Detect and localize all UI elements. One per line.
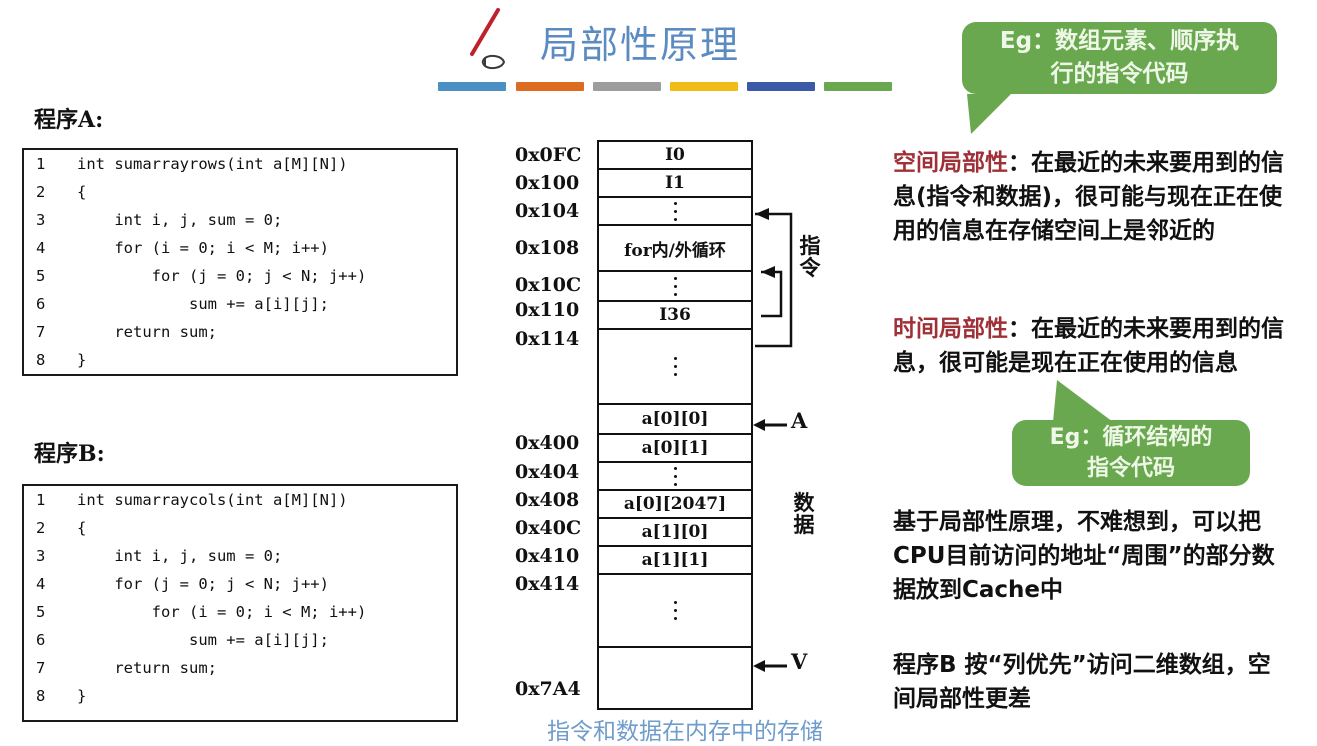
- code-line: 7 return sum;: [24, 318, 456, 346]
- temporal-locality-paragraph: 时间局部性：在最近的未来要用到的信息，很可能是现在正在使用的信息: [893, 312, 1293, 380]
- code-line: 8}: [24, 682, 456, 710]
- memory-cell: I0: [599, 142, 751, 170]
- code-line-number: 6: [24, 626, 71, 654]
- code-line-number: 7: [24, 654, 71, 682]
- memory-cell: [599, 330, 751, 405]
- memory-cell: [599, 198, 751, 226]
- code-line: 6 sum += a[i][j];: [24, 290, 456, 318]
- bar-green: [824, 82, 892, 91]
- code-line-text: {: [71, 514, 456, 542]
- program-b-note: 程序B 按“列优先”访问二维数组，空间局部性更差: [893, 648, 1293, 716]
- code-line-text: return sum;: [71, 654, 456, 682]
- vertical-ellipsis-icon: [674, 464, 677, 488]
- bar-blue: [438, 82, 506, 91]
- code-line-text: }: [71, 682, 456, 710]
- code-line-number: 2: [24, 178, 71, 206]
- memory-address-label: 0x414: [515, 573, 589, 595]
- code-line-number: 5: [24, 598, 71, 626]
- spatial-locality-paragraph: 空间局部性：在最近的未来要用到的信息(指令和数据)，很可能与现在正在使用的信息在…: [893, 146, 1293, 248]
- memory-address-label: 0x400: [515, 432, 589, 454]
- code-line-text: int sumarrayrows(int a[M][N]): [71, 150, 456, 178]
- marker-a-arrow: [753, 417, 789, 433]
- memory-cell: I36: [599, 302, 751, 330]
- vertical-ellipsis-icon: [674, 355, 677, 379]
- memory-cell-value: for内/外循环: [624, 236, 726, 261]
- slide-root: 局部性原理 程序A: 1int sumarrayrows(int a[M][N]…: [0, 0, 1317, 746]
- code-line: 1int sumarraycols(int a[M][N]): [24, 486, 456, 514]
- code-line-number: 4: [24, 234, 71, 262]
- memory-cell-value: I36: [659, 305, 691, 325]
- memory-cell-value: a[1][1]: [642, 550, 709, 570]
- code-line-text: sum += a[i][j];: [71, 290, 456, 318]
- memory-address-label: 0x408: [515, 489, 589, 511]
- memory-address-label: 0x100: [515, 172, 589, 194]
- vertical-ellipsis-icon: [674, 274, 677, 298]
- memory-cell: [599, 648, 751, 684]
- memory-address-label: 0x404: [515, 461, 589, 483]
- callout-spatial-line2: 行的指令代码: [1051, 58, 1189, 91]
- marker-v-arrow: [753, 658, 789, 674]
- code-line: 1int sumarrayrows(int a[M][N]): [24, 150, 456, 178]
- callout-temporal-example: Eg：循环结构的 指令代码: [1012, 420, 1250, 486]
- vertical-ellipsis-icon: [674, 199, 677, 223]
- code-line: 4 for (i = 0; i < M; i++): [24, 234, 456, 262]
- data-group-label: 数 据: [793, 492, 815, 536]
- memory-address-label: 0x108: [515, 237, 589, 259]
- code-line-number: 7: [24, 318, 71, 346]
- code-line-number: 4: [24, 570, 71, 598]
- code-line: 4 for (j = 0; j < N; j++): [24, 570, 456, 598]
- bar-gray: [593, 82, 661, 91]
- memory-cell-value: a[1][0]: [642, 522, 709, 542]
- callout-spatial-tail: [963, 92, 1033, 138]
- program-a-label: 程序A:: [34, 102, 103, 134]
- code-line-text: {: [71, 178, 456, 206]
- program-a-code-box: 1int sumarrayrows(int a[M][N])2{3 int i,…: [22, 148, 458, 376]
- code-line: 5 for (j = 0; j < N; j++): [24, 262, 456, 290]
- code-line-text: int sumarraycols(int a[M][N]): [71, 486, 456, 514]
- memory-cell-value: a[0][2047]: [624, 494, 726, 514]
- bar-orange: [516, 82, 584, 91]
- bar-yellow: [670, 82, 738, 91]
- memory-cell: [599, 272, 751, 302]
- callout-spatial-line1: Eg：数组元素、顺序执: [1000, 25, 1239, 58]
- code-line: 3 int i, j, sum = 0;: [24, 542, 456, 570]
- memory-address-label: 0x0FC: [515, 144, 589, 166]
- code-line-text: for (j = 0; j < N; j++): [71, 262, 456, 290]
- code-line: 2{: [24, 514, 456, 542]
- bar-darkblue: [747, 82, 815, 91]
- memory-cell-value: I1: [665, 173, 685, 193]
- callout-temporal-line2: 指令代码: [1087, 453, 1175, 484]
- memory-cell: [599, 575, 751, 648]
- code-line-number: 8: [24, 346, 71, 374]
- code-line: 7 return sum;: [24, 654, 456, 682]
- callout-temporal-line1: Eg：循环结构的: [1050, 422, 1213, 453]
- code-line: 2{: [24, 178, 456, 206]
- program-b-label: 程序B:: [34, 436, 105, 468]
- code-line: 6 sum += a[i][j];: [24, 626, 456, 654]
- code-line-text: return sum;: [71, 318, 456, 346]
- code-line-number: 3: [24, 206, 71, 234]
- memory-cell: I1: [599, 170, 751, 198]
- code-line-number: 2: [24, 514, 71, 542]
- marker-a-label: A: [791, 408, 807, 433]
- memory-table: I0I1for内/外循环I36a[0][0]a[0][1]a[0][2047]a…: [597, 140, 753, 710]
- code-line-number: 5: [24, 262, 71, 290]
- memory-cell: for内/外循环: [599, 226, 751, 272]
- memory-cell-value: a[0][1]: [642, 438, 709, 458]
- code-line-text: sum += a[i][j];: [71, 626, 456, 654]
- memory-address-label: 0x114: [515, 328, 589, 350]
- spatial-locality-term: 空间局部性: [893, 150, 1008, 176]
- temporal-locality-term: 时间局部性: [893, 316, 1008, 342]
- memory-cell: [599, 463, 751, 491]
- memory-cell: a[1][0]: [599, 519, 751, 547]
- instruction-bracket: [751, 200, 801, 360]
- code-line-text: int i, j, sum = 0;: [71, 542, 456, 570]
- code-line: 3 int i, j, sum = 0;: [24, 206, 456, 234]
- memory-address-label: 0x110: [515, 299, 589, 321]
- code-line-text: for (i = 0; i < M; i++): [71, 234, 456, 262]
- memory-diagram-caption: 指令和数据在内存中的存储: [495, 712, 875, 746]
- title-accent-bars: [438, 82, 886, 94]
- code-line-number: 8: [24, 682, 71, 710]
- code-line-text: for (i = 0; i < M; i++): [71, 598, 456, 626]
- code-line-number: 6: [24, 290, 71, 318]
- callout-spatial-example: Eg：数组元素、顺序执 行的指令代码: [962, 22, 1277, 94]
- page-title: 局部性原理: [540, 14, 740, 69]
- code-line: 8}: [24, 346, 456, 374]
- program-b-code-box: 1int sumarraycols(int a[M][N])2{3 int i,…: [22, 484, 458, 722]
- memory-cell: a[0][0]: [599, 405, 751, 435]
- memory-address-label: 0x10C: [515, 274, 589, 296]
- memory-cell: a[0][1]: [599, 435, 751, 463]
- code-line-number: 1: [24, 486, 71, 514]
- vertical-ellipsis-icon: [674, 599, 677, 623]
- memory-diagram: I0I1for内/外循环I36a[0][0]a[0][1]a[0][2047]a…: [515, 140, 855, 700]
- memory-address-label: 0x40C: [515, 517, 589, 539]
- memory-address-label: 0x104: [515, 200, 589, 222]
- memory-cell-value: I0: [665, 145, 685, 165]
- instruction-group-label: 指 令: [799, 235, 821, 279]
- code-line-text: int i, j, sum = 0;: [71, 206, 456, 234]
- memory-address-label: 0x410: [515, 545, 589, 567]
- memory-cell-value: a[0][0]: [642, 409, 709, 429]
- pen-icon: [460, 6, 520, 76]
- code-line: 5 for (i = 0; i < M; i++): [24, 598, 456, 626]
- title-block: 局部性原理: [430, 4, 890, 100]
- memory-address-label: 0x7A4: [515, 678, 589, 700]
- memory-cell: a[0][2047]: [599, 491, 751, 519]
- code-line-number: 3: [24, 542, 71, 570]
- marker-v-label: V: [791, 649, 807, 674]
- code-line-text: }: [71, 346, 456, 374]
- conclusion-paragraph: 基于局部性原理，不难想到，可以把CPU目前访问的地址“周围”的部分数据放到Cac…: [893, 505, 1293, 607]
- code-line-number: 1: [24, 150, 71, 178]
- memory-cell: a[1][1]: [599, 547, 751, 575]
- code-line-text: for (j = 0; j < N; j++): [71, 570, 456, 598]
